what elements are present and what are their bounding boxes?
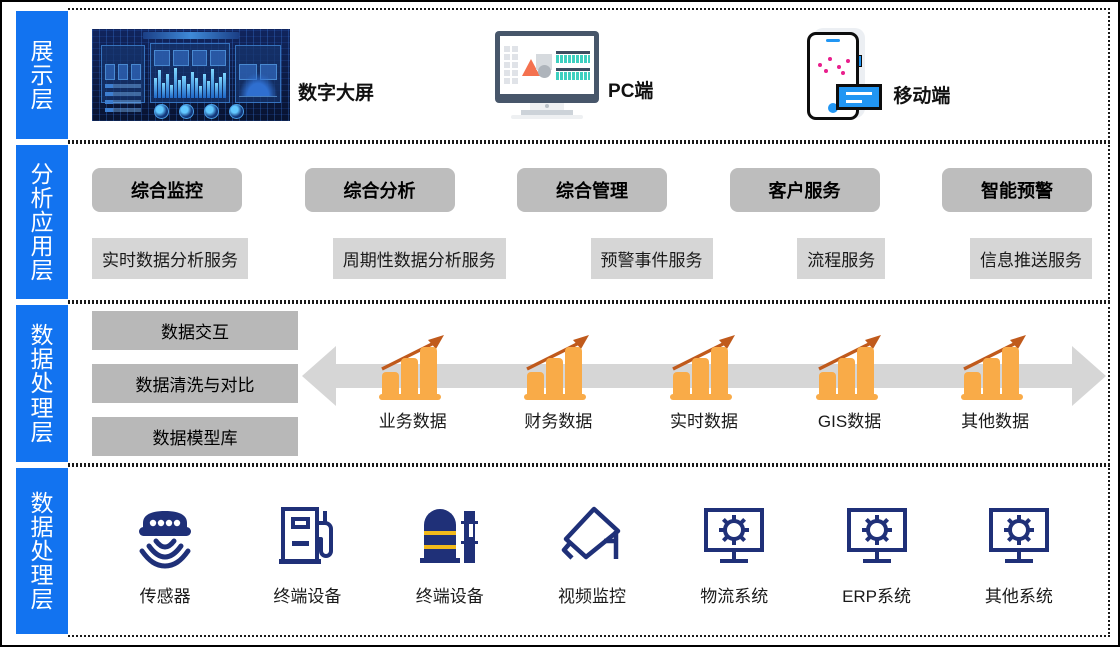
layer-tag-char: 用 [31, 234, 54, 258]
source-item-other[interactable]: 其他系统 [954, 496, 1084, 607]
service-pill-periodic-analysis[interactable]: 周期性数据分析服务 [333, 238, 506, 279]
data-source-other[interactable]: 其他数据 [940, 335, 1050, 432]
source-item-fuel-dispenser[interactable]: 终端设备 [242, 496, 372, 607]
source-label: 传感器 [140, 582, 191, 607]
capability-bar-group: 数据交互 数据清洗与对比 数据模型库 [92, 311, 298, 456]
storage-tank-icon [412, 496, 488, 576]
layer-tag-char: 据 [31, 515, 54, 539]
service-pill-alert-event[interactable]: 预警事件服务 [591, 238, 713, 279]
layer-tag-char: 层 [31, 587, 54, 611]
layer-tag-analysis: 分 析 应 用 层 [16, 145, 68, 299]
source-item-storage-tank[interactable]: 终端设备 [385, 496, 515, 607]
desktop-monitor-icon [494, 31, 600, 119]
source-item-erp[interactable]: ERP系统 [812, 496, 942, 607]
module-pill-customer-service[interactable]: 客户服务 [730, 168, 880, 212]
layer-tag-char: 层 [31, 258, 54, 282]
module-pill-intelligent-alert[interactable]: 智能预警 [942, 168, 1092, 212]
service-pill-message-push[interactable]: 信息推送服务 [970, 238, 1092, 279]
display-label-mobile: 移动端 [893, 81, 950, 108]
service-pill-row: 实时数据分析服务 周期性数据分析服务 预警事件服务 流程服务 信息推送服务 [92, 238, 1092, 279]
fuel-dispenser-icon [269, 496, 345, 576]
data-source-finance[interactable]: 财务数据 [503, 335, 613, 432]
data-source-label: 其他数据 [961, 407, 1029, 432]
data-source-flow: 业务数据 财务数据 [314, 324, 1094, 444]
module-pill-comprehensive-analysis[interactable]: 综合分析 [305, 168, 455, 212]
growth-bar-chart-icon [813, 335, 887, 401]
source-item-cctv[interactable]: 视频监控 [527, 496, 657, 607]
growth-bar-chart-icon [376, 335, 450, 401]
module-pill-comprehensive-monitoring[interactable]: 综合监控 [92, 168, 242, 212]
monitor-gear-icon [981, 496, 1057, 576]
layer-tag-char: 数 [31, 491, 54, 515]
layer-tag-char: 数 [31, 323, 54, 347]
monitor-gear-icon [839, 496, 915, 576]
layer-tag-char: 据 [31, 347, 54, 371]
capability-bar-data-model-library[interactable]: 数据模型库 [92, 417, 298, 456]
layer-display: 展 示 层 [10, 8, 1110, 142]
display-item-pc[interactable]: PC端 [494, 31, 653, 119]
growth-bar-chart-icon [521, 335, 595, 401]
layer-data-processing: 数 据 处 理 层 数据交互 数据清洗与对比 数据模型库 [10, 302, 1110, 465]
layer-tag-char: 层 [31, 87, 54, 111]
display-item-digital-screen[interactable]: 数字大屏 [92, 29, 374, 121]
source-label: 其他系统 [985, 582, 1053, 607]
layer-tag-char: 层 [31, 420, 54, 444]
data-source-label: 财务数据 [524, 407, 592, 432]
growth-bar-chart-icon [958, 335, 1032, 401]
layer-analysis-application: 分 析 应 用 层 综合监控 综合分析 综合管理 客户服务 智能预警 实时数据分… [10, 142, 1110, 302]
layer-tag-char: 处 [31, 539, 54, 563]
sensor-icon [127, 496, 203, 576]
display-item-mobile[interactable]: 移动端 [803, 26, 950, 124]
growth-bar-chart-icon [667, 335, 741, 401]
module-pill-row: 综合监控 综合分析 综合管理 客户服务 智能预警 [92, 168, 1092, 212]
source-item-logistics[interactable]: 物流系统 [669, 496, 799, 607]
layer-data-collection: 数 据 处 理 层 [10, 465, 1110, 637]
layer-tag-char: 析 [31, 186, 54, 210]
source-label: ERP系统 [842, 582, 911, 607]
layer-body-data-collection: 传感器 终端设备 [68, 465, 1110, 637]
layer-body-data-processing: 数据交互 数据清洗与对比 数据模型库 [68, 302, 1110, 465]
module-pill-comprehensive-management[interactable]: 综合管理 [517, 168, 667, 212]
data-source-label: 实时数据 [670, 407, 738, 432]
layer-body-display: 数字大屏 [68, 8, 1110, 142]
service-pill-realtime-analysis[interactable]: 实时数据分析服务 [92, 238, 248, 279]
layer-tag-data-processing: 数 据 处 理 层 [16, 305, 68, 462]
layer-tag-char: 理 [31, 563, 54, 587]
mobile-phone-icon [803, 26, 885, 124]
layer-tag-char: 应 [31, 210, 54, 234]
source-item-sensor[interactable]: 传感器 [100, 496, 230, 607]
source-label: 物流系统 [700, 582, 768, 607]
source-label: 终端设备 [273, 582, 341, 607]
service-pill-process[interactable]: 流程服务 [797, 238, 885, 279]
layer-tag-display: 展 示 层 [16, 11, 68, 139]
layer-tag-data-collection: 数 据 处 理 层 [16, 468, 68, 634]
source-label: 终端设备 [416, 582, 484, 607]
data-source-realtime[interactable]: 实时数据 [649, 335, 759, 432]
data-source-gis[interactable]: GIS数据 [795, 335, 905, 432]
data-source-business[interactable]: 业务数据 [358, 335, 468, 432]
display-label-digital-screen: 数字大屏 [298, 78, 374, 105]
data-source-label: 业务数据 [379, 407, 447, 432]
layer-tag-char: 展 [31, 39, 54, 63]
capability-bar-data-interaction[interactable]: 数据交互 [92, 311, 298, 350]
display-label-pc: PC端 [608, 76, 653, 103]
architecture-diagram: 展 示 层 [0, 0, 1120, 647]
layer-tag-char: 理 [31, 396, 54, 420]
layer-tag-char: 分 [31, 162, 54, 186]
layer-tag-char: 处 [31, 371, 54, 395]
monitor-gear-icon [696, 496, 772, 576]
layer-body-analysis: 综合监控 综合分析 综合管理 客户服务 智能预警 实时数据分析服务 周期性数据分… [68, 142, 1110, 302]
data-source-label: GIS数据 [818, 407, 881, 432]
layer-tag-char: 示 [31, 63, 54, 87]
cctv-camera-icon [554, 496, 630, 576]
capability-bar-data-cleaning[interactable]: 数据清洗与对比 [92, 364, 298, 403]
source-label: 视频监控 [558, 582, 626, 607]
digital-dashboard-icon [92, 29, 290, 121]
